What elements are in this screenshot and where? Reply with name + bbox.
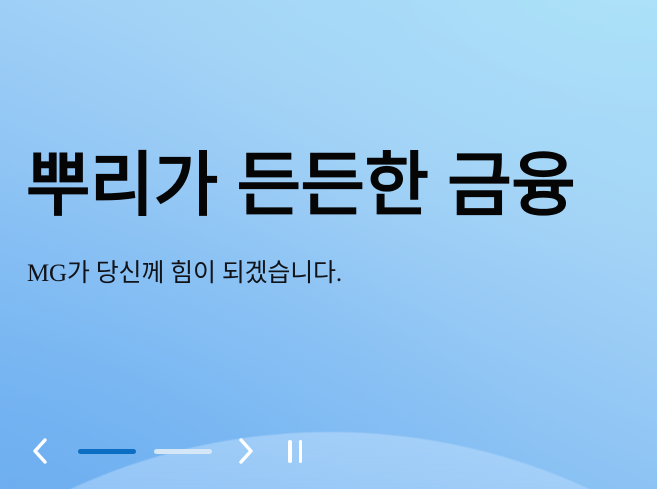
hero-subheadline: MG가 당신께 힘이 되겠습니다. — [27, 258, 626, 289]
pause-icon-bar-right — [299, 440, 303, 463]
chevron-left-icon — [31, 437, 49, 465]
carousel-indicator-list — [78, 449, 212, 454]
hero-headline: 뿌리가 든든한 금융 — [26, 146, 626, 224]
pause-icon-bar-left — [288, 440, 292, 463]
carousel-next-button[interactable] — [230, 433, 262, 469]
list-item — [78, 449, 136, 454]
carousel-pause-button[interactable] — [280, 433, 310, 469]
carousel-prev-button[interactable] — [24, 433, 56, 469]
carousel-indicator-2[interactable] — [154, 449, 212, 454]
list-item — [154, 449, 212, 454]
carousel-indicator-1[interactable] — [78, 449, 136, 454]
hero-banner: 뿌리가 든든한 금융 MG가 당신께 힘이 되겠습니다. — [0, 0, 657, 489]
hero-copy-block: 뿌리가 든든한 금융 MG가 당신께 힘이 되겠습니다. — [26, 146, 626, 290]
carousel-controls — [24, 433, 310, 469]
chevron-right-icon — [237, 437, 255, 465]
